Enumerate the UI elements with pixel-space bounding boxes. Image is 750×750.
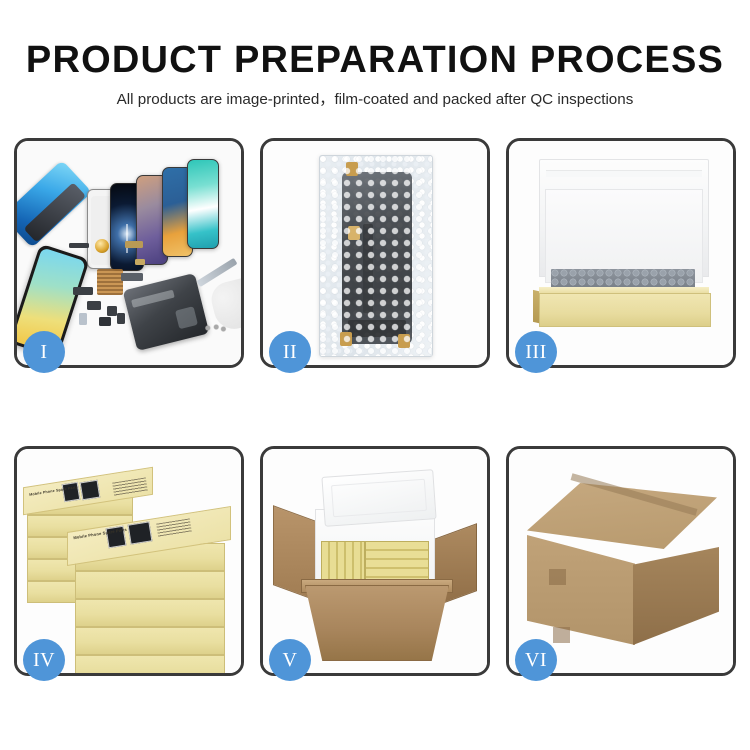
small-part-icon [87, 301, 101, 310]
step-4-badge: IV [23, 639, 65, 681]
step-6-badge: VI [515, 639, 557, 681]
screws-icon [203, 323, 227, 333]
step-5-badge: V [269, 639, 311, 681]
retail-box-slab [75, 627, 225, 655]
process-step-1[interactable]: I [14, 138, 244, 368]
retail-box-slab [75, 599, 225, 627]
process-step-6[interactable]: VI [506, 446, 736, 676]
ribbon-cable-icon [121, 273, 143, 281]
retail-box-slab [75, 571, 225, 599]
box-stack-icon: Mobile Phone Spare Parts Mobile Phone Sp… [21, 471, 241, 667]
box-artwork-screen-icon [80, 480, 101, 501]
page-title: PRODUCT PREPARATION PROCESS [0, 38, 750, 82]
gold-contact-icon [135, 259, 145, 265]
small-part-icon [117, 313, 125, 324]
wrapped-part-icon [342, 172, 412, 344]
tape-tab-icon [348, 226, 360, 240]
gold-connector-icon [125, 241, 143, 248]
process-step-5[interactable]: V [260, 446, 490, 676]
flex-cable-icon [73, 287, 93, 295]
small-part-icon [107, 306, 117, 316]
sim-tray-icon [79, 313, 87, 325]
step-2-badge: II [269, 331, 311, 373]
tape-tab-icon [398, 334, 410, 348]
gold-component-icon [95, 239, 109, 253]
bubble-wrap-bag-icon [319, 155, 433, 357]
phone-screen-teal-icon [187, 159, 219, 249]
carton-body-icon [305, 585, 449, 661]
foam-lid-open-icon [321, 469, 436, 527]
process-step-4[interactable]: Mobile Phone Spare Parts Mobile Phone Sp… [14, 446, 244, 676]
retail-box-slab [75, 655, 225, 673]
camera-module-icon [99, 317, 111, 326]
header: PRODUCT PREPARATION PROCESS All products… [0, 38, 750, 110]
tape-tab-icon [340, 332, 352, 346]
kraft-box-front-icon [539, 293, 711, 327]
step-1-badge: I [23, 331, 65, 373]
copper-grid-chip-icon [97, 269, 123, 295]
process-step-grid: I II [14, 138, 736, 676]
product-preparation-infographic: PRODUCT PREPARATION PROCESS All products… [0, 0, 750, 750]
page-subtitle: All products are image-printed，film-coat… [0, 90, 750, 110]
process-step-3[interactable]: III [506, 138, 736, 368]
box-artwork-screen-icon [128, 521, 153, 544]
carton-tape-icon [549, 569, 566, 585]
carton-tape-icon [553, 627, 570, 643]
step-3-badge: III [515, 331, 557, 373]
tape-tab-icon [346, 162, 358, 176]
flex-cable-icon [69, 243, 89, 248]
process-step-2[interactable]: II [260, 138, 490, 368]
